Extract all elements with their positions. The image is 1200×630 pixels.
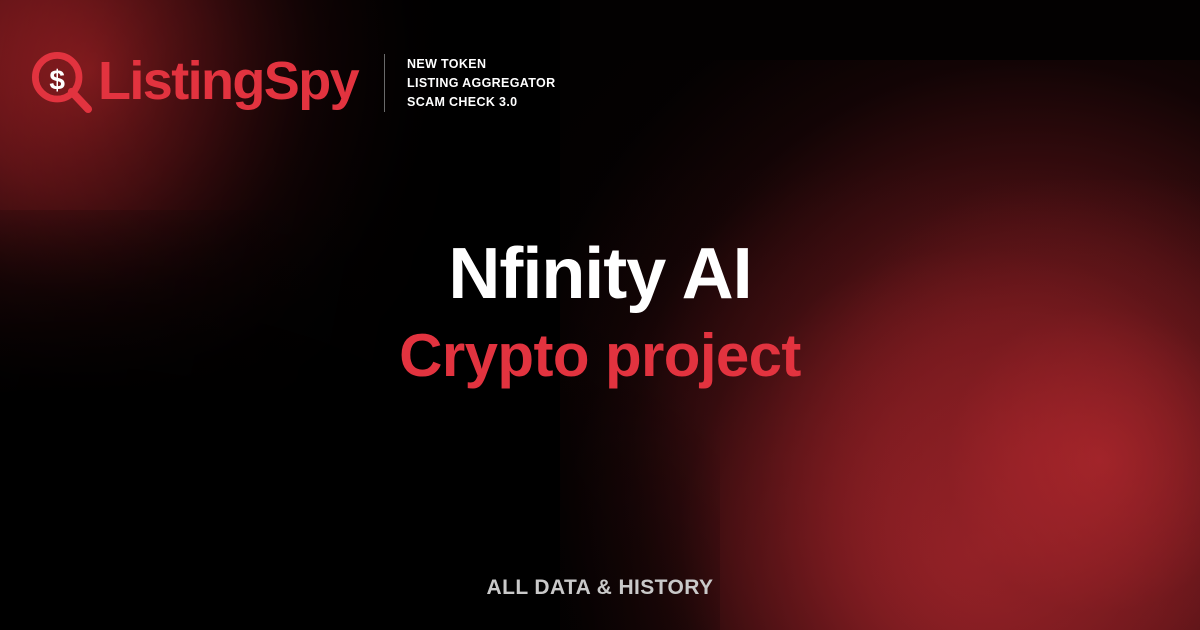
project-type: Crypto project (0, 322, 1200, 389)
brand-tagline: NEW TOKEN LISTING AGGREGATOR SCAM CHECK … (407, 55, 555, 112)
brand-header: $ ListingSpy NEW TOKEN LISTING AGGREGATO… (32, 52, 555, 114)
social-share-card: $ ListingSpy NEW TOKEN LISTING AGGREGATO… (0, 0, 1200, 630)
magnifier-dollar-icon: $ (32, 52, 94, 114)
svg-text:$: $ (49, 64, 65, 95)
tagline-line-1: NEW TOKEN (407, 55, 555, 74)
brand-wordmark: ListingSpy (98, 54, 358, 112)
footer: ALL DATA & HISTORY (0, 576, 1200, 600)
footer-label: ALL DATA & HISTORY (487, 576, 714, 599)
headline-block: Nfinity AI Crypto project (0, 236, 1200, 389)
tagline-line-2: LISTING AGGREGATOR (407, 74, 555, 93)
tagline-line-3: SCAM CHECK 3.0 (407, 93, 555, 112)
project-name: Nfinity AI (0, 236, 1200, 314)
brand-logo[interactable]: $ ListingSpy (32, 52, 358, 114)
header-divider (384, 54, 385, 112)
